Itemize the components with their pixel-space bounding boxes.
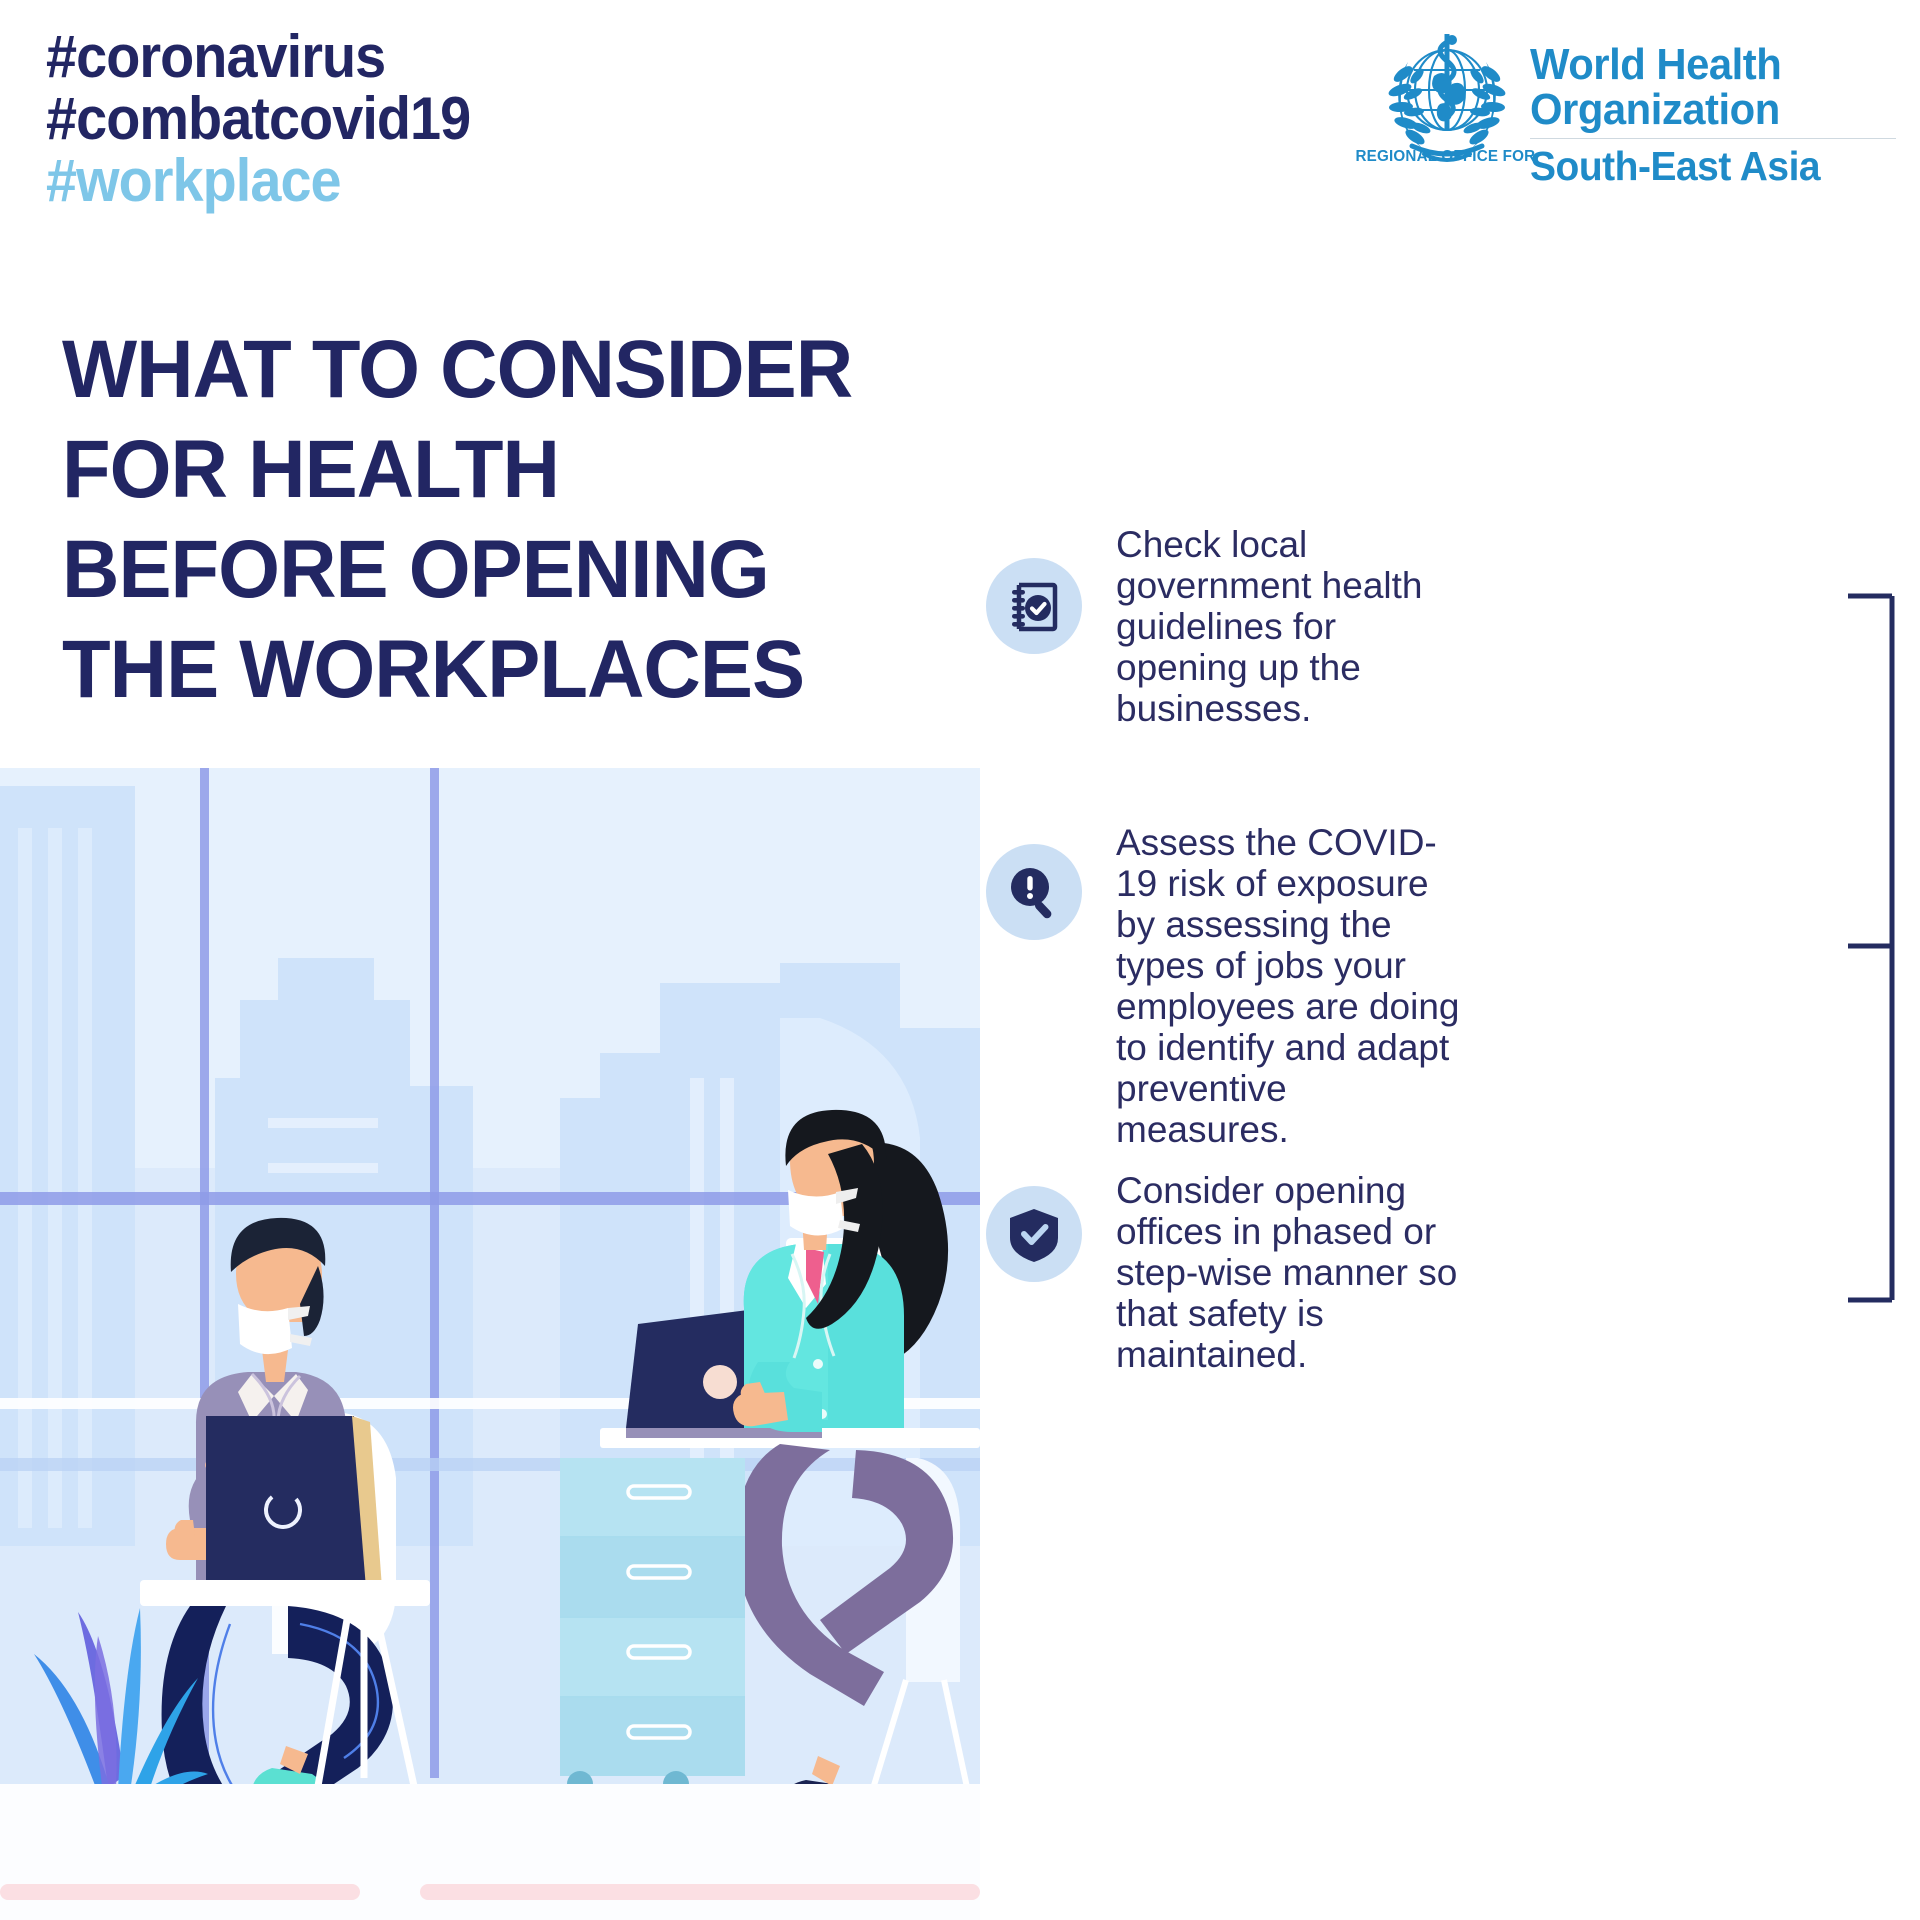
office-workers-illustration [0, 768, 980, 1920]
hashtag-coronavirus: #coronavirus [46, 26, 790, 88]
hashtag-workplace: #workplace [46, 150, 790, 212]
headline-line-2: FOR HEALTH [62, 420, 993, 520]
who-region-label: South-East Asia [1530, 144, 1820, 188]
bullet-text-2: Assess the COVID-19 risk of exposure by … [1116, 822, 1468, 1150]
infographic-canvas: #coronavirus #combatcovid19 #workplace [0, 0, 1920, 1920]
headline-line-4: THE WORKPLACES [62, 620, 993, 720]
bullet-item-2: Assess the COVID-19 risk of exposure by … [986, 822, 1468, 1150]
hashtag-combatcovid19: #combatcovid19 [46, 88, 790, 150]
bullet-item-3: Consider opening offices in phased or st… [986, 1170, 1488, 1375]
shield-check-icon [986, 1186, 1082, 1282]
bullet-text-3: Consider opening offices in phased or st… [1116, 1170, 1488, 1375]
headline-line-3: BEFORE OPENING [62, 520, 993, 620]
hashtag-group: #coronavirus #combatcovid19 #workplace [46, 26, 846, 212]
who-divider [1530, 138, 1896, 139]
bullet-text-1: Check local government health guidelines… [1116, 524, 1468, 729]
who-line-1: World Health [1530, 42, 1878, 87]
desk-left [140, 1580, 430, 1606]
who-line-2: Organization [1530, 87, 1878, 132]
cabinet-drawers [560, 1458, 745, 1797]
page-title: WHAT TO CONSIDER FOR HEALTH BEFORE OPENI… [62, 320, 1022, 720]
bracket-connector [1800, 560, 1920, 1320]
who-regional-office-label: REGIONAL OFFICE FOR [1355, 148, 1535, 166]
bullet-item-1: Check local government health guidelines… [986, 524, 1468, 729]
who-wordmark: World Health Organization South-East Asi… [1530, 18, 1896, 188]
magnifier-alert-icon [986, 844, 1082, 940]
headline-line-1: WHAT TO CONSIDER [62, 320, 993, 420]
notebook-check-icon [986, 558, 1082, 654]
